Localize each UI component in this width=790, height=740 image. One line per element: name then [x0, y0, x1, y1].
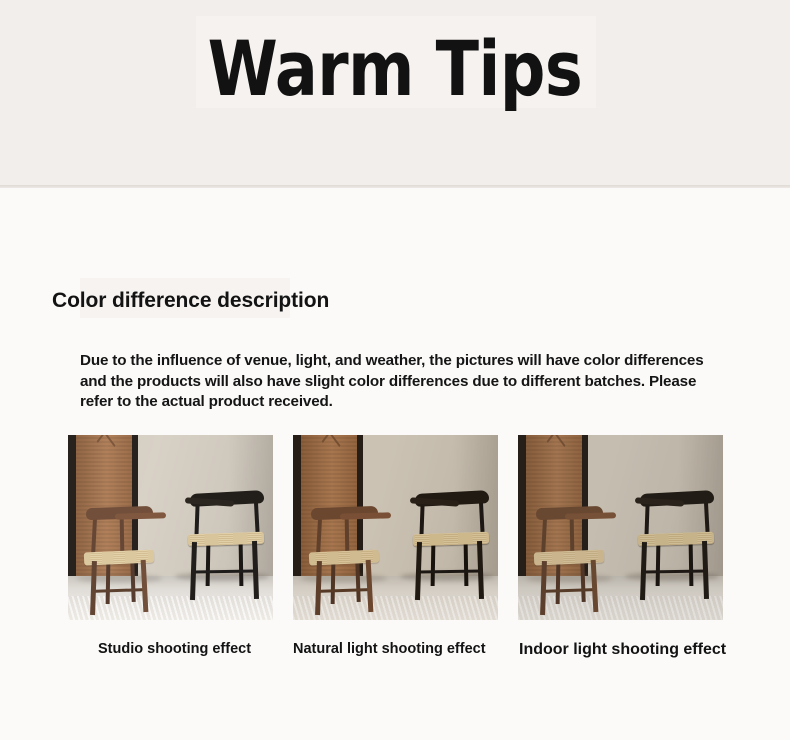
chair-leg	[555, 561, 559, 604]
chair-leg	[238, 542, 242, 586]
product-photo-studio	[68, 435, 273, 620]
chair-armrest	[339, 512, 390, 519]
chair-back-post	[570, 516, 575, 555]
photo-caption-natural-light: Natural light shooting effect	[293, 641, 486, 657]
chair-stretcher	[317, 588, 369, 593]
chair-stretcher	[542, 588, 594, 593]
chair-leg	[252, 541, 259, 599]
black-chair	[408, 492, 498, 603]
chair-leg	[206, 542, 210, 586]
chair-leg	[90, 561, 96, 615]
chair-leg	[105, 561, 109, 604]
chair-leg	[140, 560, 147, 612]
chair-stretcher	[92, 588, 144, 593]
chair-leg	[477, 541, 484, 599]
chair-leg	[365, 560, 372, 612]
photo-card-natural-light[interactable]	[293, 435, 498, 620]
walnut-chair	[80, 507, 170, 614]
chair-leg	[130, 561, 135, 602]
chair-leg	[656, 542, 660, 586]
chair-stretcher	[194, 569, 257, 573]
photo-caption-indoor-light: Indoor light shooting effect	[519, 641, 726, 659]
chair-stretcher	[644, 569, 707, 573]
section-heading: Color difference description	[52, 289, 329, 313]
chair-back-post	[345, 516, 350, 555]
chair-leg	[580, 561, 585, 602]
color-difference-paragraph: Due to the influence of venue, light, an…	[80, 351, 712, 413]
chair-armrest	[564, 512, 615, 519]
chair-leg	[355, 561, 360, 602]
chair-leg	[590, 560, 597, 612]
chair-back-post	[120, 516, 125, 555]
chair-leg	[431, 542, 435, 586]
photo-card-studio[interactable]	[68, 435, 273, 620]
black-chair	[183, 492, 273, 603]
chair-leg	[702, 541, 709, 599]
product-photo-natural-light	[293, 435, 498, 620]
chair-stretcher	[419, 569, 482, 573]
chair-leg	[640, 542, 647, 600]
chair-leg	[330, 561, 334, 604]
black-chair	[633, 492, 723, 603]
main-content: Color difference description Due to the …	[0, 188, 790, 740]
photo-caption-studio: Studio shooting effect	[98, 641, 251, 657]
chair-leg	[540, 561, 546, 615]
product-photo-indoor-light	[518, 435, 723, 620]
chair-leg	[415, 542, 422, 600]
header-band: Warm Tips	[0, 0, 790, 188]
chair-armrest	[114, 512, 165, 519]
walnut-chair	[530, 507, 620, 614]
chair-leg	[190, 542, 197, 600]
walnut-chair	[305, 507, 395, 614]
photo-gallery	[0, 435, 790, 621]
chair-leg	[688, 542, 692, 586]
page-title: Warm Tips	[28, 24, 763, 114]
photo-card-indoor-light[interactable]	[518, 435, 723, 620]
chair-leg	[315, 561, 321, 615]
chair-leg	[463, 542, 467, 586]
